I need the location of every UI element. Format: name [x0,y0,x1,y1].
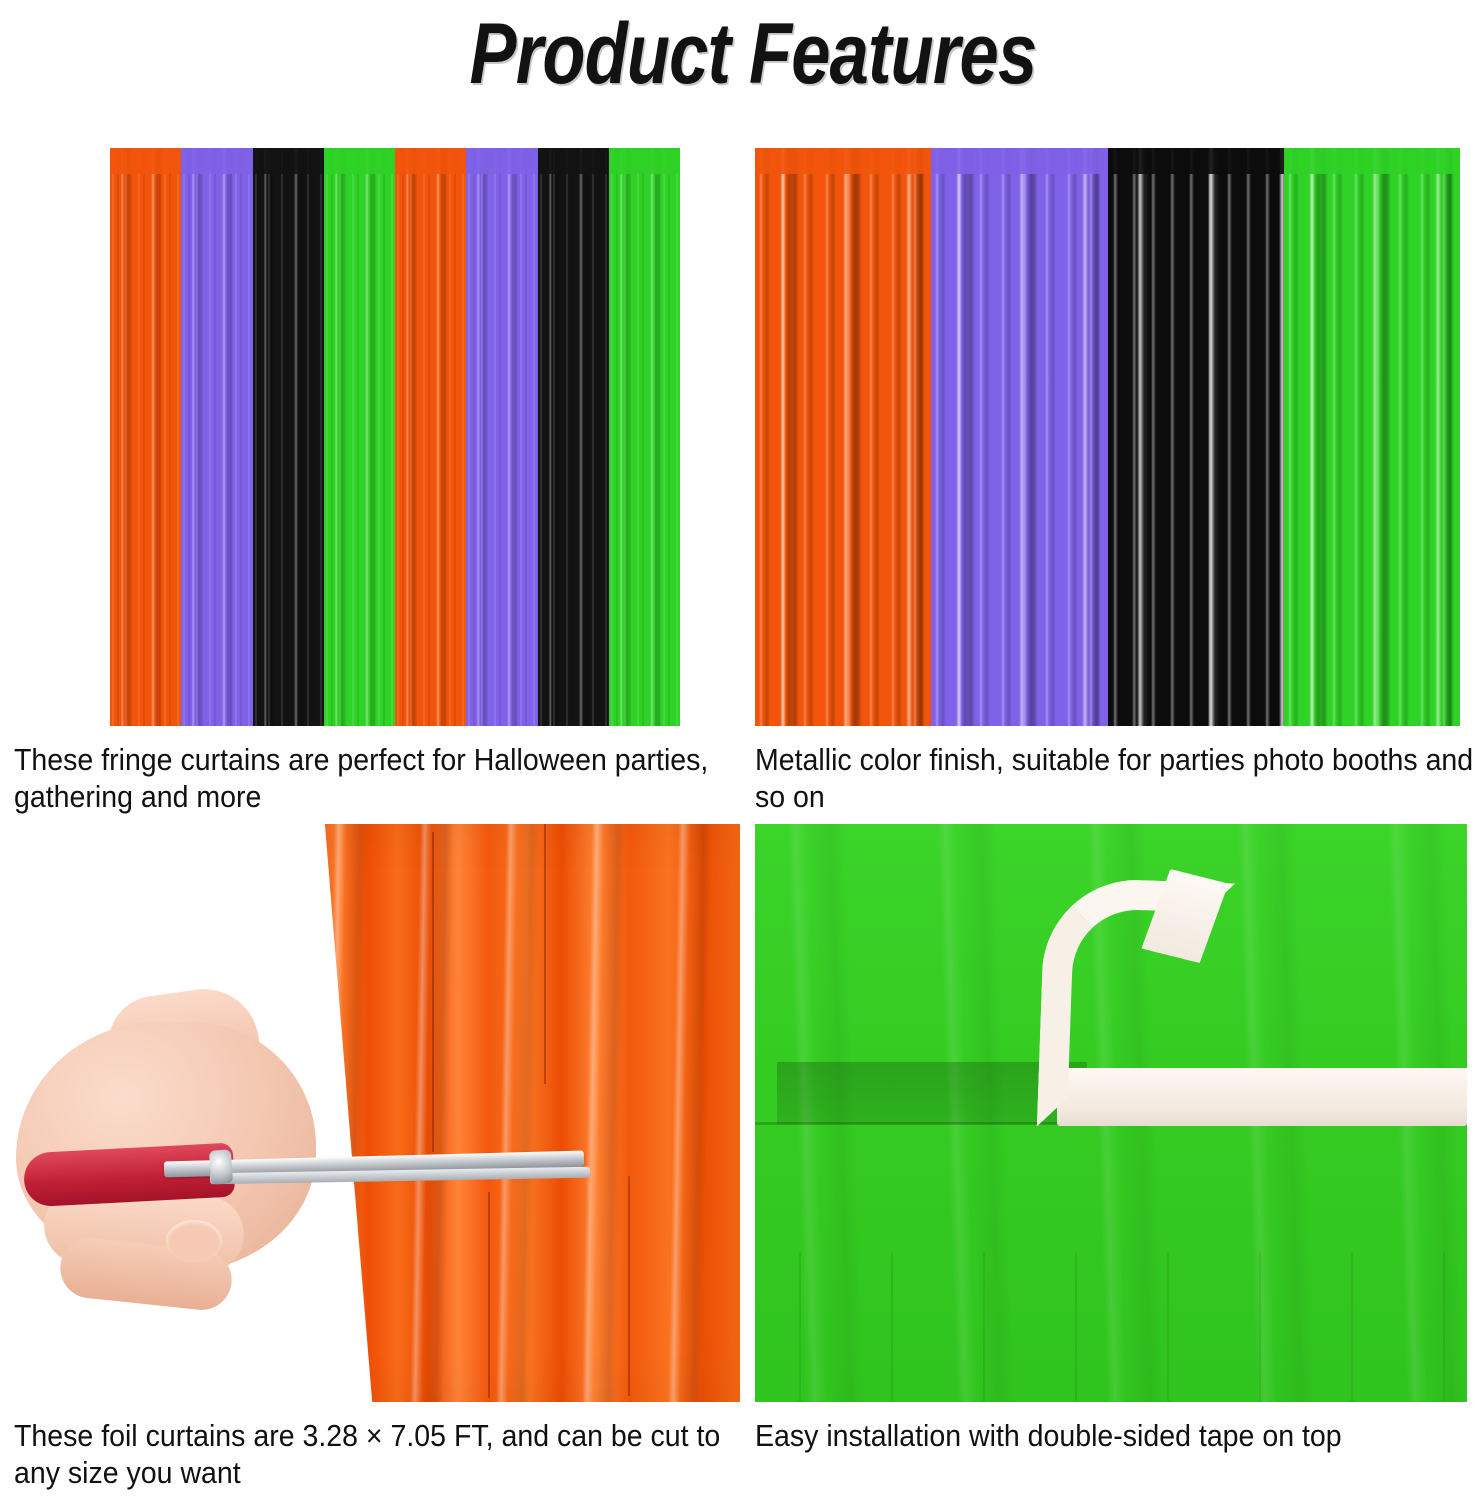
feature-cell-fringe-curtains-halloween: These fringe curtains are perfect for Ha… [14,148,740,815]
orange-curtain [312,824,740,1402]
fringe-cuts [755,1252,1467,1402]
curtain-panel-orange-2 [395,148,466,726]
curtain-panel-orange-1 [110,148,181,726]
curtain-panel-orange-closeup [755,148,931,726]
page-title: Product Features [445,11,1036,97]
fingernail [166,1220,222,1262]
curtain-panel-green-1 [324,148,395,726]
curtain-slit [628,1176,630,1396]
curtain-panel-green-closeup [1284,148,1460,726]
feature-caption-double-sided-tape: Easy installation with double-sided tape… [755,1418,1481,1455]
curtain-slit [544,824,546,1084]
double-sided-tape-green-curtain-photo [755,824,1467,1402]
curtain-panel-purple-1 [181,148,252,726]
hand [16,992,346,1292]
feature-cell-cut-to-size: These foil curtains are 3.28 × 7.05 FT, … [14,824,740,1491]
curtain-panel-black-1 [253,148,324,726]
curtain-slit [488,1192,490,1398]
curtain-panel-row-closeup [755,148,1460,726]
curtain-panel-row [110,148,680,726]
curtain-panel-black-2 [538,148,609,726]
metallic-finish-closeup-photo [755,148,1460,726]
scissors-cutting-orange-curtain-photo [14,824,740,1402]
curtain-panel-purple-closeup [931,148,1107,726]
feature-caption-metallic-color-finish: Metallic color finish, suitable for part… [755,742,1481,815]
scissors-pivot [209,1149,233,1184]
feature-caption-fringe-curtains-halloween: These fringe curtains are perfect for Ha… [14,742,750,815]
fringe-curtain-set-photo [110,148,680,726]
curtain-panel-black-closeup [1108,148,1284,726]
page-title-bar: Product Features [0,0,1481,108]
curtain-panel-purple-2 [466,148,537,726]
feature-cell-double-sided-tape: Easy installation with double-sided tape… [755,824,1467,1455]
curtain-slit [432,832,434,1152]
curtain-gloss [312,824,740,1402]
feature-caption-cut-to-size: These foil curtains are 3.28 × 7.05 FT, … [14,1418,750,1491]
feature-cell-metallic-color-finish: Metallic color finish, suitable for part… [755,148,1467,815]
curtain-panel-green-2 [609,148,680,726]
